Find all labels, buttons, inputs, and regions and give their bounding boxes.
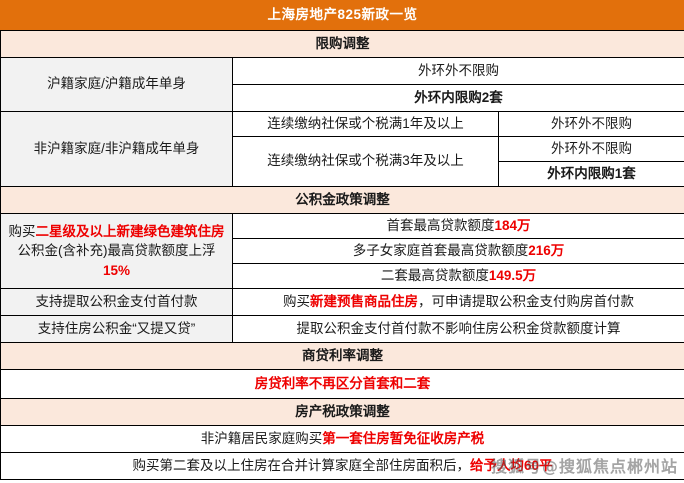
cell-value-first-home-tax: 非沪籍居民家庭购买第一套住房暂免征收房产税	[1, 426, 684, 453]
table-row: 支持提取公积金支付首付款 购买新建预售商品住房，可申请提取公积金支付购房首付款	[1, 289, 684, 316]
text-run-highlight: 184万	[494, 218, 530, 233]
table-row: 购买二星级及以上新建绿色建筑住房公积金(含补充)最高贷款额度上浮15% 首套最高…	[1, 214, 684, 239]
cell-value-highlight: 外环内限购1套	[499, 162, 684, 187]
text-run: 二套最高贷款额度	[381, 268, 489, 283]
text-run-highlight: 给予人均60平	[470, 458, 553, 473]
section-title-purchase-limit: 限购调整	[1, 31, 684, 58]
section-header-row: 限购调整	[1, 31, 684, 58]
page-title: 上海房地产825新政一览	[1, 1, 684, 31]
title-row: 上海房地产825新政一览	[1, 1, 684, 31]
text-run: 多子女家庭首套最高贷款额度	[353, 243, 529, 258]
text-run: 公积金(含补充)最高贷款额度上浮	[18, 243, 216, 258]
text-run-highlight: 房贷利率不再区分首套和二套	[255, 376, 431, 391]
policy-table-graphic: 上海房地产825新政一览 限购调整 沪籍家庭/沪籍成年单身 外环外不限购 外环内…	[0, 0, 684, 483]
table-row: 购买第二套及以上住房在合并计算家庭全部住房面积后，给予人均60平	[1, 453, 684, 480]
row-label-hu-household: 沪籍家庭/沪籍成年单身	[1, 58, 233, 112]
text-run-highlight: 二星级及以上新建绿色建筑住房	[36, 224, 225, 239]
section-title-mortgage-rate: 商贷利率调整	[1, 343, 684, 370]
cell-condition: 连续缴纳社保或个税满1年及以上	[233, 112, 499, 137]
cell-value-highlight: 房贷利率不再区分首套和二套	[1, 370, 684, 399]
cell-value-multichild-cap: 多子女家庭首套最高贷款额度216万	[233, 239, 684, 264]
cell-value-second-home-tax: 购买第二套及以上住房在合并计算家庭全部住房面积后，给予人均60平	[1, 453, 684, 480]
cell-value: 外环外不限购	[499, 137, 684, 162]
row-label-withdraw-and-loan: 支持住房公积金“又提又贷”	[1, 316, 233, 343]
cell-value-first-home-cap: 首套最高贷款额度184万	[233, 214, 684, 239]
cell-value-second-home-cap: 二套最高贷款额度149.5万	[233, 264, 684, 289]
section-title-property-tax: 房产税政策调整	[1, 399, 684, 426]
text-run: 购买	[9, 224, 36, 239]
table-row: 非沪籍家庭/非沪籍成年单身 连续缴纳社保或个税满1年及以上 外环外不限购	[1, 112, 684, 137]
row-label-green-building-loan: 购买二星级及以上新建绿色建筑住房公积金(含补充)最高贷款额度上浮15%	[1, 214, 233, 289]
text-run-highlight: 216万	[528, 243, 564, 258]
text-run: 提取公积金支付首付款不影响住房公积金贷款额度计算	[297, 321, 621, 336]
table-row: 支持住房公积金“又提又贷” 提取公积金支付首付款不影响住房公积金贷款额度计算	[1, 316, 684, 343]
text-run: ，可申请提取公积金支付购房首付款	[418, 294, 634, 309]
text-run: 非沪籍居民家庭购买	[201, 431, 323, 446]
text-run-highlight: 新建预售商品住房	[310, 294, 418, 309]
table-row: 房贷利率不再区分首套和二套	[1, 370, 684, 399]
row-label-withdraw-downpayment: 支持提取公积金支付首付款	[1, 289, 233, 316]
text-run: 首套最高贷款额度	[386, 218, 494, 233]
table-row: 沪籍家庭/沪籍成年单身 外环外不限购	[1, 58, 684, 85]
cell-value: 外环外不限购	[233, 58, 684, 85]
row-label-non-hu-household: 非沪籍家庭/非沪籍成年单身	[1, 112, 233, 187]
cell-value: 购买新建预售商品住房，可申请提取公积金支付购房首付款	[233, 289, 684, 316]
table-row: 非沪籍居民家庭购买第一套住房暂免征收房产税	[1, 426, 684, 453]
text-run: 购买	[283, 294, 310, 309]
cell-condition: 连续缴纳社保或个税满3年及以上	[233, 137, 499, 187]
cell-value: 提取公积金支付首付款不影响住房公积金贷款额度计算	[233, 316, 684, 343]
policy-table: 上海房地产825新政一览 限购调整 沪籍家庭/沪籍成年单身 外环外不限购 外环内…	[0, 0, 684, 480]
section-header-row: 商贷利率调整	[1, 343, 684, 370]
cell-value-highlight: 外环内限购2套	[233, 85, 684, 112]
section-header-row: 房产税政策调整	[1, 399, 684, 426]
section-title-housing-fund: 公积金政策调整	[1, 187, 684, 214]
text-run-highlight: 149.5万	[489, 268, 536, 283]
section-header-row: 公积金政策调整	[1, 187, 684, 214]
text-run: 购买第二套及以上住房在合并计算家庭全部住房面积后，	[132, 458, 470, 473]
text-run-highlight: 第一套住房暂免征收房产税	[322, 431, 484, 446]
cell-value: 外环外不限购	[499, 112, 684, 137]
text-run-highlight: 15%	[103, 263, 130, 278]
